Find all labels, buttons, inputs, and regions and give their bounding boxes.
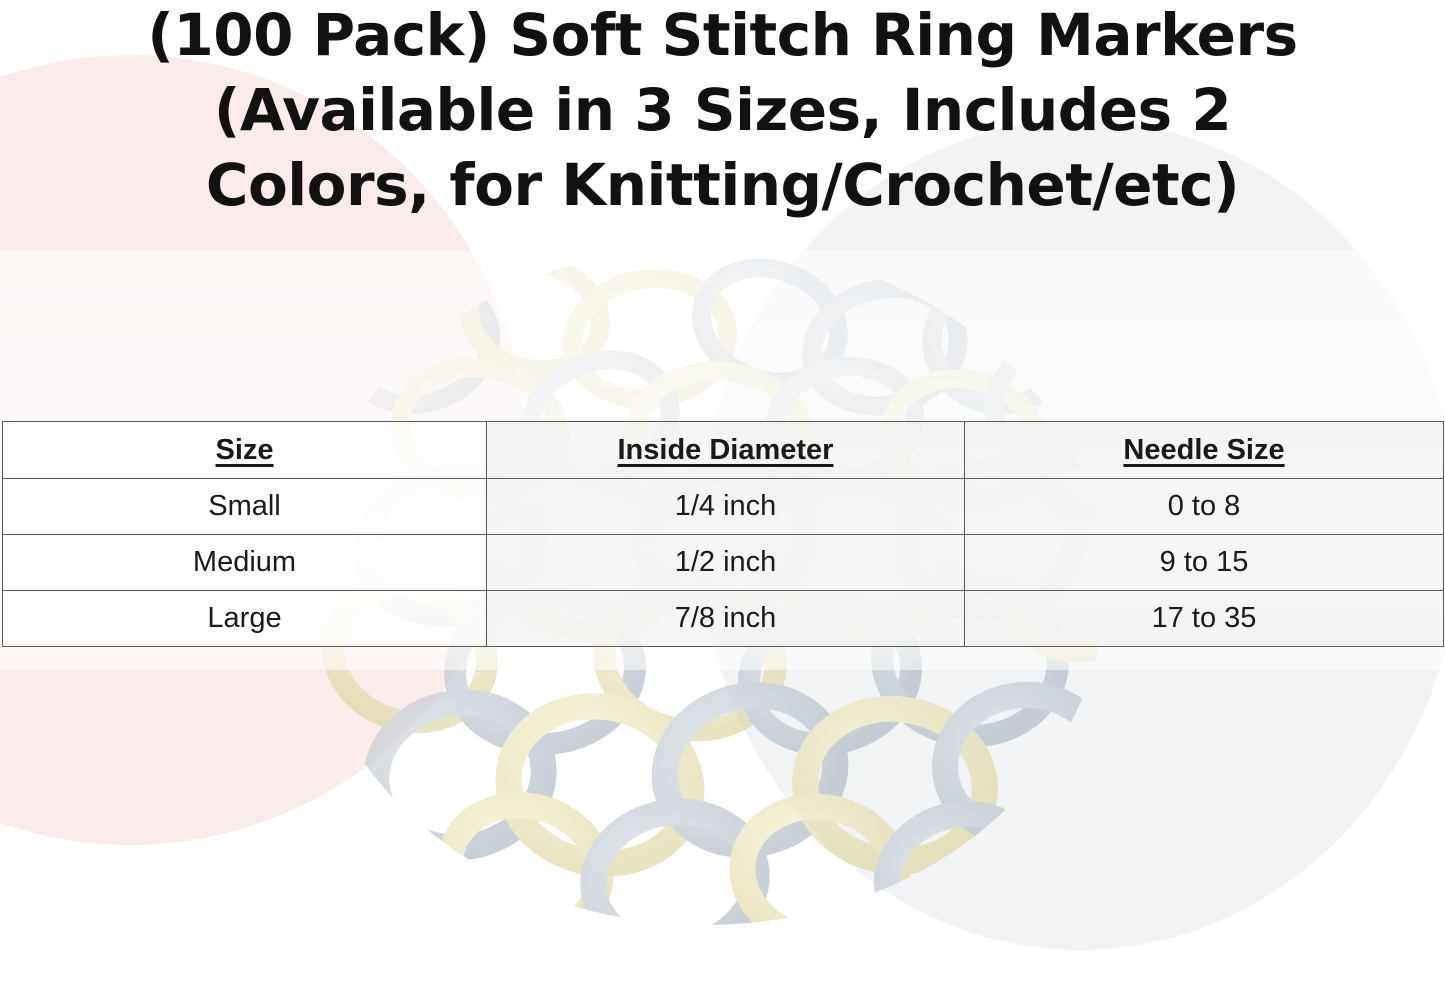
cell-size: Large [3, 591, 487, 647]
cell-size: Medium [3, 535, 487, 591]
table-row: Small 1/4 inch 0 to 8 [3, 479, 1444, 535]
column-header-inside-diameter: Inside Diameter [487, 422, 965, 479]
size-chart: Size Inside Diameter Needle Size Small 1… [2, 421, 1443, 647]
cell-needle-size: 17 to 35 [965, 591, 1444, 647]
cell-needle-size: 9 to 15 [965, 535, 1444, 591]
column-header-size-label: Size [215, 434, 273, 466]
table-row: Large 7/8 inch 17 to 35 [3, 591, 1444, 647]
cell-inside-diameter: 7/8 inch [487, 591, 965, 647]
table-header-row: Size Inside Diameter Needle Size [3, 422, 1444, 479]
product-infographic: (100 Pack) Soft Stitch Ring Markers (Ava… [0, 0, 1445, 1007]
cell-inside-diameter: 1/4 inch [487, 479, 965, 535]
column-header-needle-size: Needle Size [965, 422, 1444, 479]
size-table: Size Inside Diameter Needle Size Small 1… [2, 421, 1444, 647]
cell-size: Small [3, 479, 487, 535]
column-header-inside-diameter-label: Inside Diameter [618, 434, 834, 466]
page-title: (100 Pack) Soft Stitch Ring Markers (Ava… [0, 0, 1445, 223]
cell-needle-size: 0 to 8 [965, 479, 1444, 535]
column-header-size: Size [3, 422, 487, 479]
table-row: Medium 1/2 inch 9 to 15 [3, 535, 1444, 591]
cell-inside-diameter: 1/2 inch [487, 535, 965, 591]
column-header-needle-size-label: Needle Size [1123, 434, 1284, 466]
